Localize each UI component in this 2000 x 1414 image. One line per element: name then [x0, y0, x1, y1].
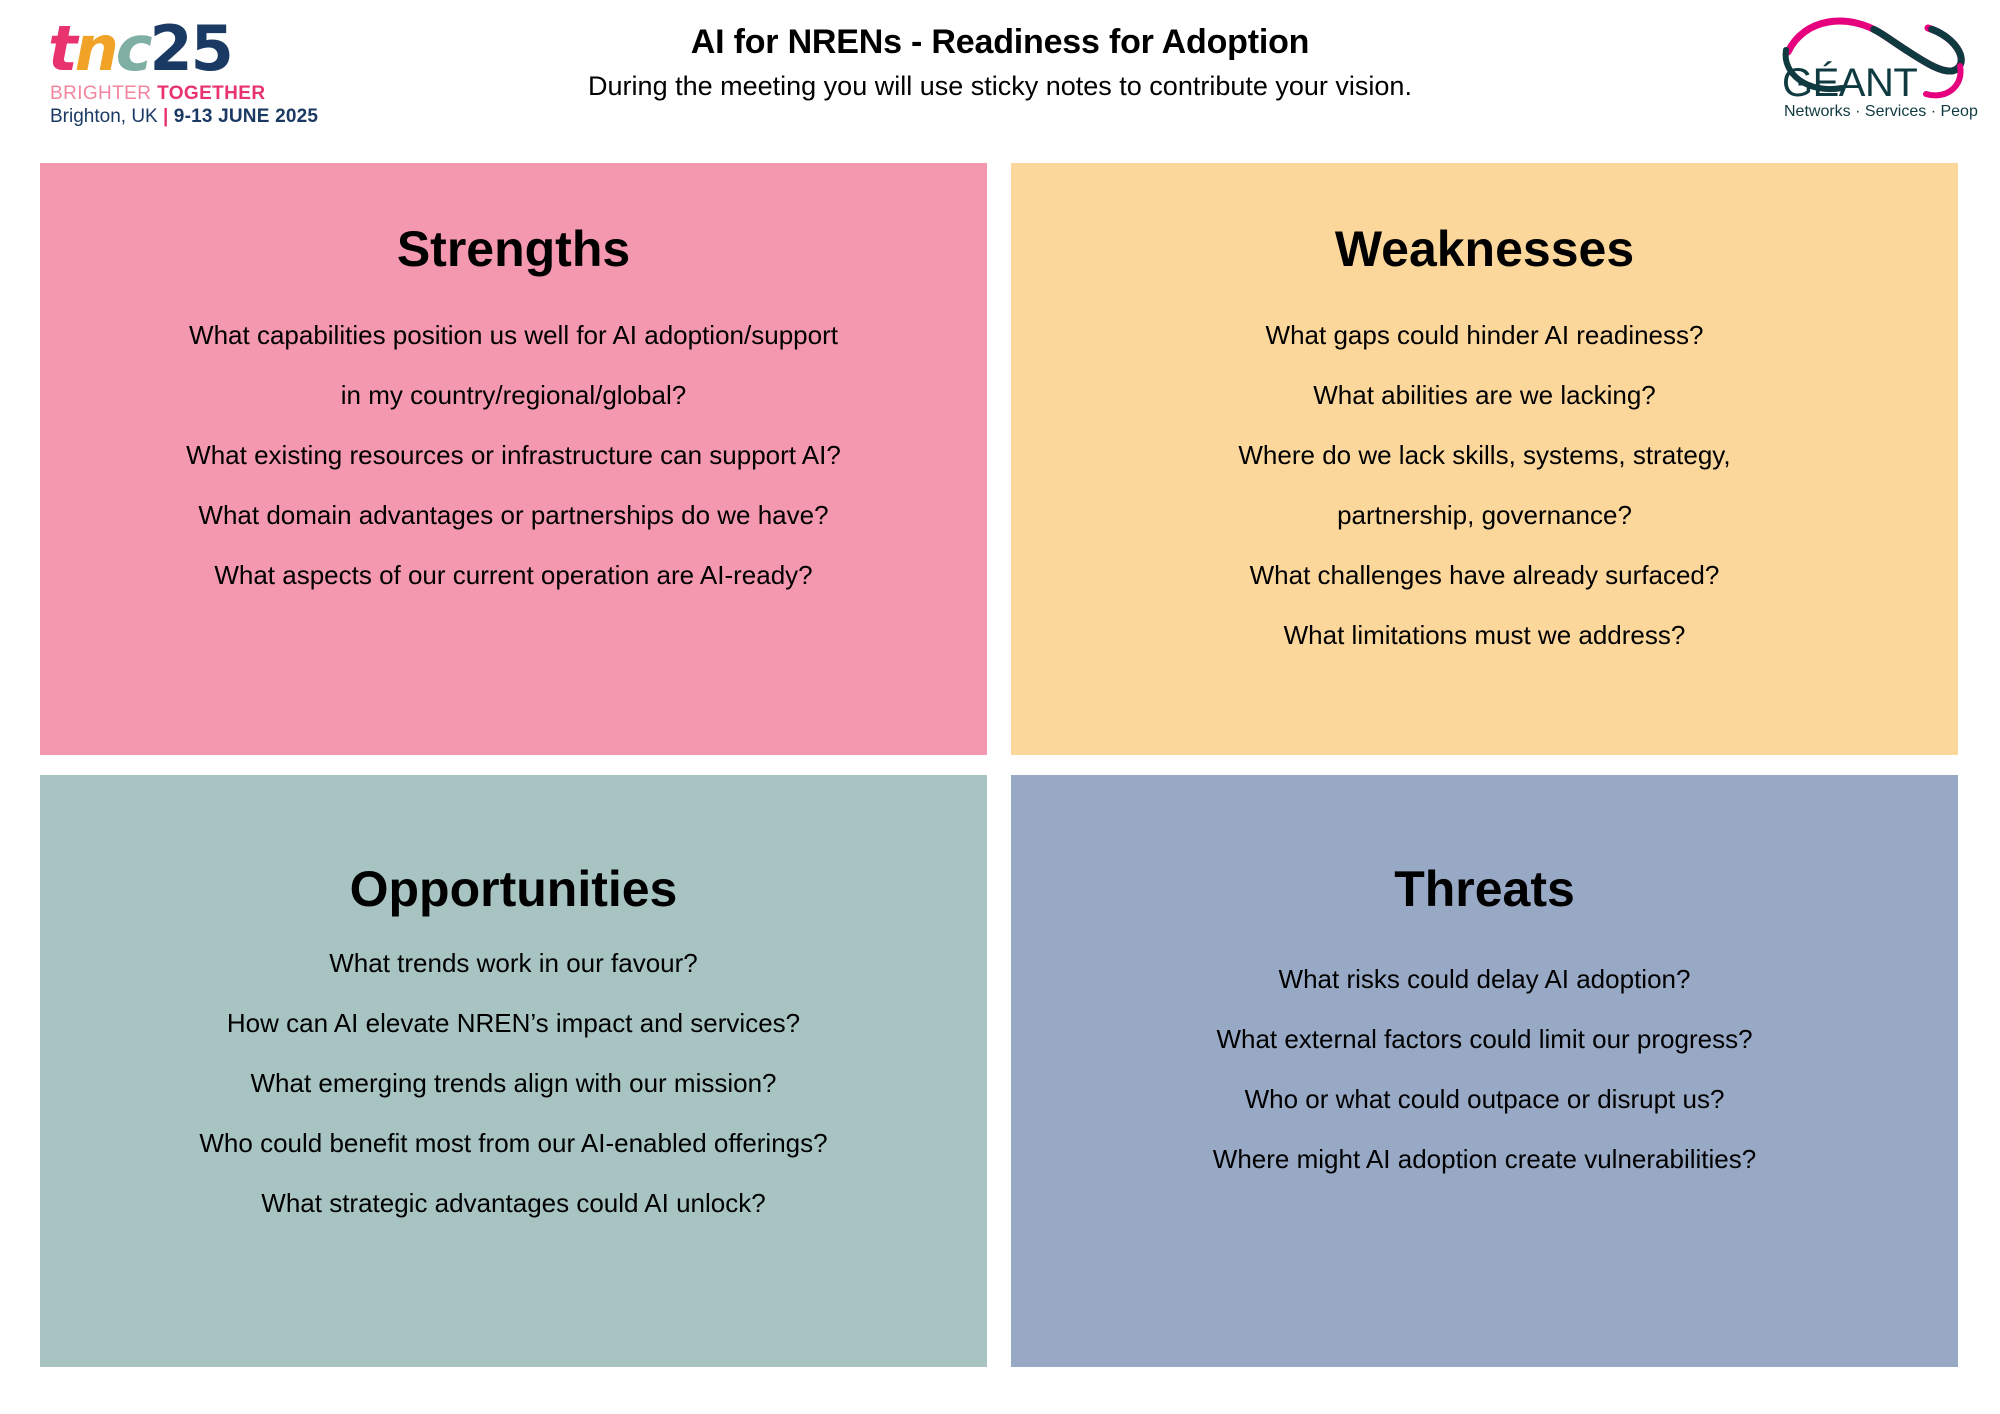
prompt-line: Where might AI adoption create vulnerabi… — [1037, 1129, 1932, 1189]
tnc25-location-dates: Brighton, UK | 9-13 JUNE 2025 — [50, 107, 318, 126]
page-header: tnc25 BRIGHTER TOGETHER Brighton, UK | 9… — [0, 0, 2000, 160]
prompt-line: What aspects of our current operation ar… — [66, 545, 961, 605]
quadrant-title-strengths: Strengths — [397, 219, 630, 279]
prompt-line: Who or what could outpace or disrupt us? — [1037, 1069, 1932, 1129]
tnc-letter-t: t — [48, 12, 75, 85]
geant-tagline: Networks · Services · People — [1784, 103, 1978, 120]
prompt-line: partnership, governance? — [1037, 485, 1932, 545]
prompt-line: What external factors could limit our pr… — [1037, 1009, 1932, 1069]
tnc-tagline-brighter: BRIGHTER — [50, 83, 157, 104]
tnc-dates: 9-13 JUNE 2025 — [168, 106, 318, 127]
prompt-line: What gaps could hinder AI readiness? — [1037, 305, 1932, 365]
swot-quadrant-weaknesses: Weaknesses What gaps could hinder AI rea… — [1011, 163, 1958, 755]
tnc-letter-n: n — [75, 12, 116, 85]
tnc25-wordmark: tnc25 — [48, 18, 232, 80]
swot-quadrant-opportunities: Opportunities What trends work in our fa… — [40, 775, 987, 1367]
tnc-year: 25 — [150, 12, 232, 85]
prompt-line: What limitations must we address? — [1037, 605, 1932, 665]
quadrant-lines-opportunities: What trends work in our favour? How can … — [66, 933, 961, 1233]
quadrant-title-weaknesses: Weaknesses — [1335, 219, 1634, 279]
swot-poster: tnc25 BRIGHTER TOGETHER Brighton, UK | 9… — [0, 0, 2000, 1414]
prompt-line: What domain advantages or partnerships d… — [66, 485, 961, 545]
prompt-line: What emerging trends align with our miss… — [66, 1053, 961, 1113]
prompt-line: How can AI elevate NREN’s impact and ser… — [66, 993, 961, 1053]
quadrant-title-opportunities: Opportunities — [350, 859, 678, 919]
prompt-line: What trends work in our favour? — [66, 933, 961, 993]
page-title: AI for NRENs - Readiness for Adoption — [420, 20, 1580, 64]
swot-quadrant-strengths: Strengths What capabilities position us … — [40, 163, 987, 755]
tnc25-logo: tnc25 BRIGHTER TOGETHER Brighton, UK | 9… — [48, 18, 288, 126]
quadrant-title-threats: Threats — [1394, 859, 1575, 919]
tnc-letter-c: c — [116, 12, 150, 85]
prompt-line: What existing resources or infrastructur… — [66, 425, 961, 485]
quadrant-lines-strengths: What capabilities position us well for A… — [66, 305, 961, 605]
geant-wordmark: GÉANT — [1782, 60, 1917, 105]
geant-logo: GÉANT Networks · Services · People — [1778, 8, 1978, 120]
page-subtitle: During the meeting you will use sticky n… — [420, 68, 1580, 104]
tnc25-tagline: BRIGHTER TOGETHER — [50, 84, 265, 103]
tnc-city: Brighton, UK — [50, 106, 163, 127]
swot-grid: Strengths What capabilities position us … — [40, 163, 1958, 1367]
prompt-line: in my country/regional/global? — [66, 365, 961, 425]
prompt-line: What abilities are we lacking? — [1037, 365, 1932, 425]
prompt-line: What strategic advantages could AI unloc… — [66, 1173, 961, 1233]
quadrant-lines-weaknesses: What gaps could hinder AI readiness? Wha… — [1037, 305, 1932, 665]
swot-quadrant-threats: Threats What risks could delay AI adopti… — [1011, 775, 1958, 1367]
prompt-line: What challenges have already surfaced? — [1037, 545, 1932, 605]
quadrant-lines-threats: What risks could delay AI adoption? What… — [1037, 949, 1932, 1189]
tnc-tagline-together: TOGETHER — [157, 83, 265, 104]
prompt-line: Where do we lack skills, systems, strate… — [1037, 425, 1932, 485]
title-block: AI for NRENs - Readiness for Adoption Du… — [420, 20, 1580, 104]
prompt-line: Who could benefit most from our AI-enabl… — [66, 1113, 961, 1173]
prompt-line: What risks could delay AI adoption? — [1037, 949, 1932, 1009]
prompt-line: What capabilities position us well for A… — [66, 305, 961, 365]
